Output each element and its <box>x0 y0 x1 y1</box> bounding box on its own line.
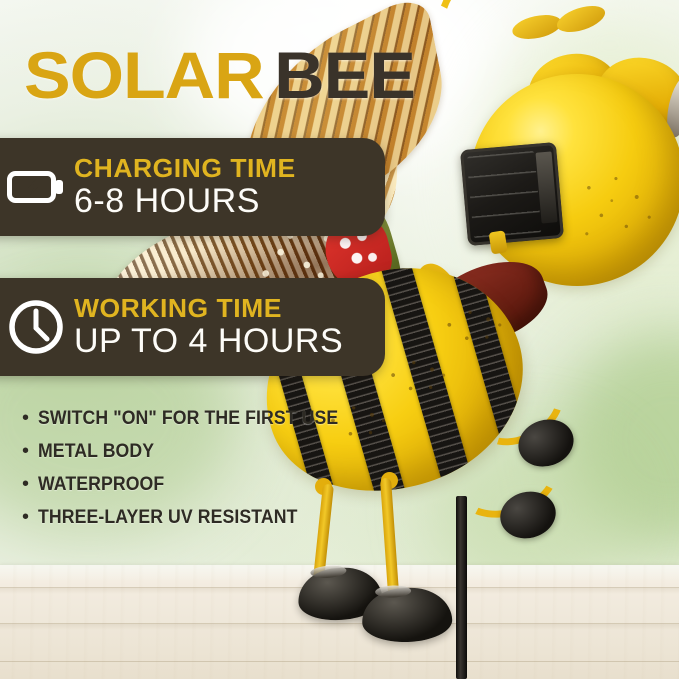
charging-time-text: CHARGING TIME 6-8 HOURS <box>74 154 305 220</box>
charging-time-value: 6-8 HOURS <box>74 182 291 220</box>
product-infographic: SOLARBEE CHARGING TIME 6-8 HOURS WORKING… <box>0 0 679 679</box>
feature-label: METAL BODY <box>38 441 154 463</box>
clock-icon <box>0 297 74 357</box>
feature-list: • SWITCH "ON" FOR THE FIRST USE • METAL … <box>22 408 352 540</box>
list-item: • THREE-LAYER UV RESISTANT <box>22 507 352 529</box>
charging-time-badge: CHARGING TIME 6-8 HOURS <box>0 138 385 236</box>
working-time-badge: WORKING TIME UP TO 4 HOURS <box>0 278 385 376</box>
working-time-heading: WORKING TIME <box>74 294 349 322</box>
title-word-bee: BEE <box>274 38 415 112</box>
working-time-text: WORKING TIME UP TO 4 HOURS <box>74 294 357 360</box>
solar-panel-clip <box>489 230 508 254</box>
bullet-icon: • <box>22 408 29 428</box>
feature-label: THREE-LAYER UV RESISTANT <box>38 507 297 529</box>
solar-panel-cells <box>467 151 542 239</box>
garden-stake-pole <box>456 496 467 679</box>
charging-time-heading: CHARGING TIME <box>74 154 296 182</box>
working-time-value: UP TO 4 HOURS <box>74 322 343 360</box>
feature-label: WATERPROOF <box>38 474 164 496</box>
bullet-icon: • <box>22 474 29 494</box>
bee-shoe-cuff <box>375 585 411 598</box>
bee-head-speckle-texture <box>566 162 670 254</box>
title-word-solar: SOLAR <box>24 38 264 112</box>
list-item: • SWITCH "ON" FOR THE FIRST USE <box>22 408 352 430</box>
page-title: SOLARBEE <box>24 42 415 108</box>
bullet-icon: • <box>22 507 29 527</box>
feature-label: SWITCH "ON" FOR THE FIRST USE <box>38 408 338 430</box>
bullet-icon: • <box>22 441 29 461</box>
solar-panel <box>460 142 564 246</box>
battery-charging-icon <box>0 170 74 204</box>
bee-leg-right <box>380 478 399 594</box>
list-item: • WATERPROOF <box>22 474 352 496</box>
list-item: • METAL BODY <box>22 441 352 463</box>
